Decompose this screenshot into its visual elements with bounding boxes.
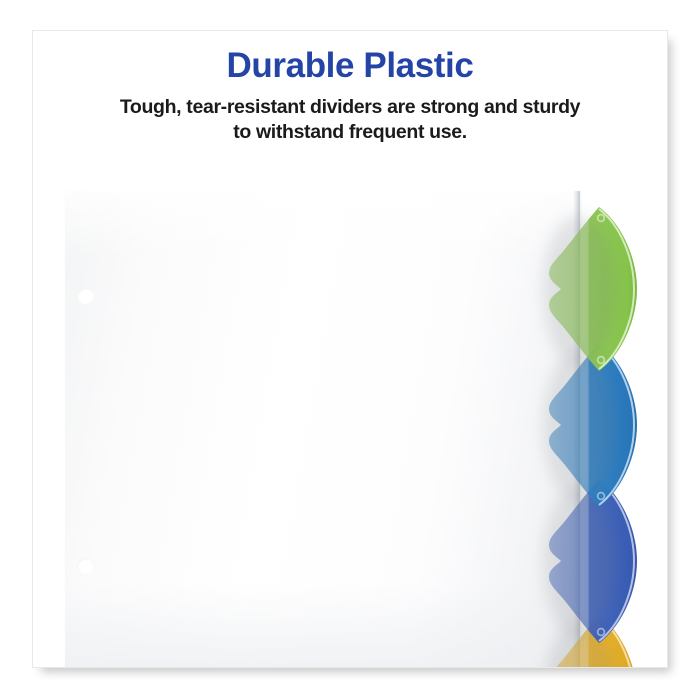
subhead-line-1: Tough, tear-resistant dividers are stron… [120, 96, 580, 118]
sheet-sheen-overlay [65, 191, 580, 667]
page-title: Durable Plastic [51, 45, 649, 86]
bottom-punch-hole-icon [77, 558, 94, 575]
headline-block: Durable Plastic Tough, tear-resistant di… [33, 45, 667, 145]
screenshot-stage: Durable Plastic Tough, tear-resistant di… [0, 0, 700, 700]
divider-tab-column [541, 199, 667, 667]
divider-sheet [65, 191, 580, 667]
product-marketing-card: Durable Plastic Tough, tear-resistant di… [32, 30, 668, 668]
indigo-tab-shadow [543, 487, 615, 637]
top-punch-hole-icon [77, 288, 94, 305]
blue-tab-shadow [543, 351, 615, 501]
subhead-line-2: to withstand frequent use. [233, 121, 467, 143]
product-accessible-name: Plastic index divider set [33, 31, 34, 32]
subhead-text: Tough, tear-resistant dividers are stron… [51, 95, 649, 145]
card-clip-region: Durable Plastic Tough, tear-resistant di… [33, 31, 667, 667]
green-tab [541, 205, 649, 373]
green-tab-shadow [543, 215, 615, 365]
